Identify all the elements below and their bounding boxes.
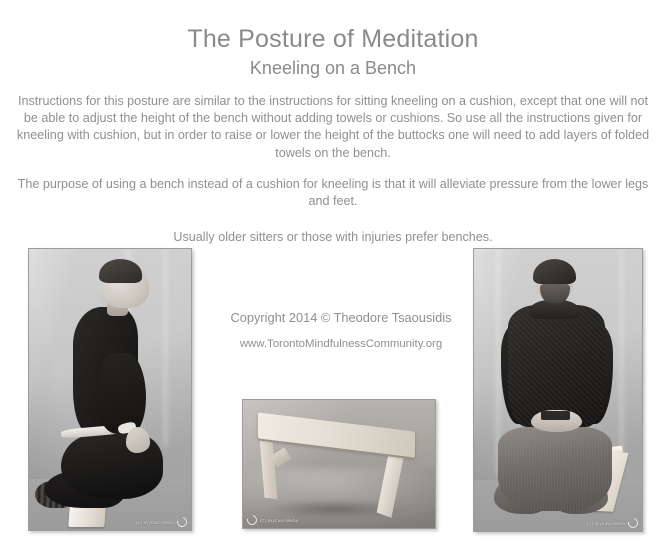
skycave-ring-icon (175, 515, 189, 529)
watermark-right: (C) SkyCave Media (587, 518, 638, 528)
figure-arm (100, 353, 145, 434)
photo-middle-scene: (C) SkyCave Media (243, 400, 435, 528)
skycave-ring-icon (626, 516, 640, 530)
page-subtitle: Kneeling on a Bench (0, 58, 666, 79)
instructions-paragraph: Instructions for this posture are simila… (0, 93, 666, 163)
photo-left-scene: (C) SkyCave Media (29, 249, 191, 530)
figure-hair (99, 259, 143, 283)
figure-jeans (498, 427, 612, 512)
figure-hand (126, 427, 150, 452)
watermark-text: (C) SkyCave Media (136, 520, 174, 525)
page-title: The Posture of Meditation (0, 25, 666, 54)
photo-left-profile-kneeling: (C) SkyCave Media (28, 248, 192, 531)
cloth-fold (618, 249, 625, 452)
copyright-notice: Copyright 2014 © Theodore Tsaousidis (196, 310, 486, 325)
meditation-posture-page: The Posture of Meditation Kneeling on a … (0, 0, 666, 547)
skycave-ring-icon (245, 513, 259, 527)
website-url[interactable]: www.TorontoMindfulnessCommunity.org (196, 338, 486, 350)
watermark-middle: (C) SkyCave Media (247, 515, 298, 525)
photo-right-scene: (C) SkyCave Media (474, 249, 642, 531)
cloth-fold (162, 249, 169, 446)
figure-sweater (508, 305, 605, 426)
audience-paragraph: Usually older sitters or those with inju… (0, 229, 666, 246)
watermark-text: (C) SkyCave Media (587, 521, 625, 526)
watermark-text: (C) SkyCave Media (260, 518, 298, 523)
figure-held-object (541, 411, 570, 420)
photo-middle-bench: (C) SkyCave Media (242, 399, 436, 529)
watermark-left: (C) SkyCave Media (136, 517, 187, 527)
purpose-paragraph: The purpose of using a bench instead of … (0, 176, 666, 211)
photo-right-front-kneeling: (C) SkyCave Media (473, 248, 643, 532)
